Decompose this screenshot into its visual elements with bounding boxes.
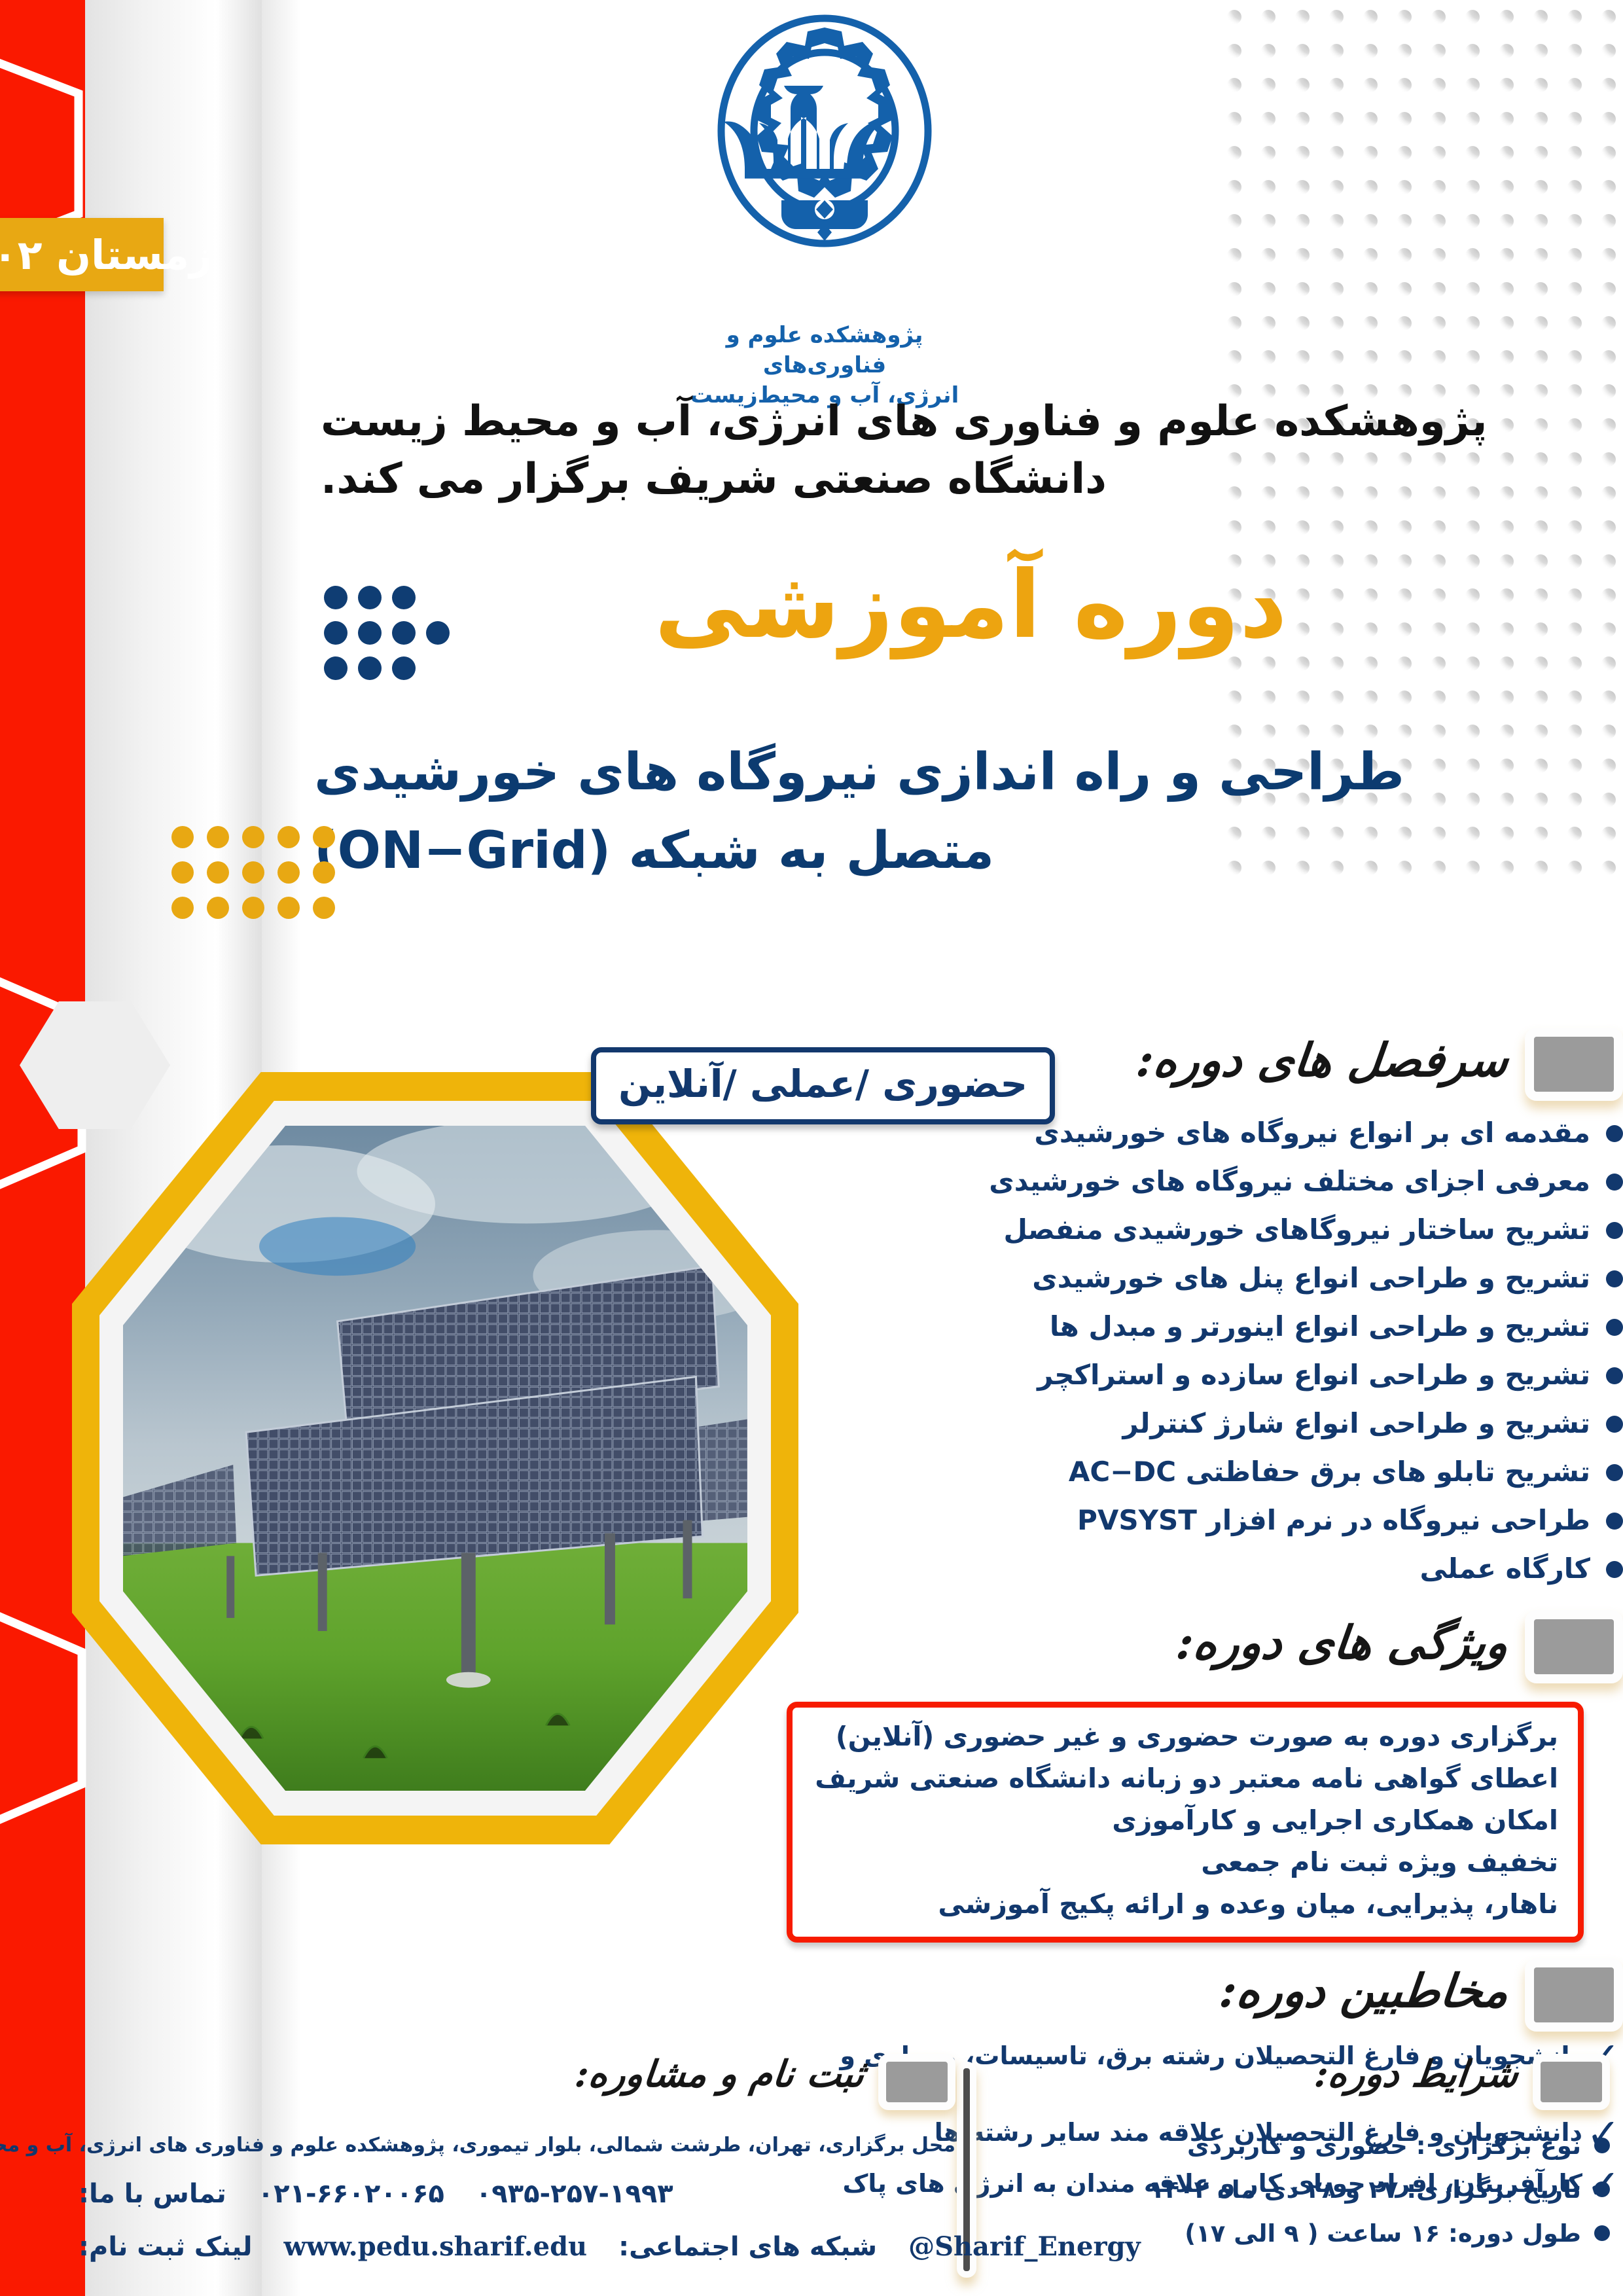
website-link[interactable]: www.pedu.sharif.edu: [284, 2231, 588, 2262]
syllabus-list: مقدمه ای بر انواع نیروگاه های خورشیدی مع…: [772, 1119, 1623, 1583]
sharif-university-logo-icon: [713, 13, 936, 249]
venue-address: محل برگزاری، تهران، طرشت شمالی، بلوار تی…: [79, 2134, 955, 2157]
registration-tab-icon: [878, 2054, 955, 2110]
page-subtitle-1: طراحی و راه اندازی نیروگاه های خورشیدی: [314, 740, 1571, 806]
footer-zone: شرایط دوره: نوع برگزاری : حضوری و کاربرد…: [0, 2049, 1623, 2296]
list-item: تخفیف ویژه ثبت نام جمعی: [812, 1848, 1558, 1878]
features-box: برگزاری دوره به صورت حضوری و غیر حضوری (…: [787, 1702, 1584, 1943]
contact-row: تماس با ما: ۰۲۱-۶۶۰۲۰۰۶۵ ۰۹۳۵-۲۵۷-۱۹۹۳: [79, 2179, 955, 2209]
registration-section-header: ثبت نام و مشاوره:: [79, 2049, 955, 2134]
registration-link-label: لینک ثبت نام:: [79, 2232, 253, 2262]
phone-primary[interactable]: ۰۲۱-۶۶۰۲۰۰۶۵: [258, 2179, 444, 2209]
links-row: لینک ثبت نام: www.pedu.sharif.edu شبکه ه…: [79, 2231, 955, 2262]
social-handle[interactable]: @Sharif_Energy: [908, 2231, 1141, 2262]
list-item: تشریح تابلو های برق حفاظتی AC−DC: [772, 1458, 1623, 1486]
decorative-blue-dots: [324, 586, 460, 692]
audience-heading: مخاطبین دوره:: [1217, 1964, 1512, 2018]
solar-plant-photo-frame: [72, 1072, 798, 1844]
list-item: تشریح و طراحی انواع سازده و استراکچر: [772, 1361, 1623, 1389]
list-item: ناهار، پذیرایی، میان وعده و ارائه پکیج آ…: [812, 1890, 1558, 1920]
phone-mobile[interactable]: ۰۹۳۵-۲۵۷-۱۹۹۳: [476, 2179, 673, 2209]
features-tab-icon: [1525, 1610, 1623, 1683]
header-statement: پژوهشکده علوم و فناوری های انرژی، آب و م…: [321, 393, 1564, 509]
features-heading: ویژگی های دوره:: [1174, 1615, 1511, 1670]
list-item: تشریح و طراحی انواع شارژ کنترلر: [772, 1410, 1623, 1437]
conditions-heading: شرایط دوره:: [1313, 2053, 1521, 2096]
list-item: تشریح و طراحی انواع پنل های خورشیدی: [772, 1265, 1623, 1292]
season-ribbon: زمستان ۱۴۰۲: [0, 218, 164, 291]
poster-root: زمستان ۱۴۰۲: [0, 0, 1623, 2296]
list-item: معرفی اجزای مختلف نیروگاه های خورشیدی: [772, 1168, 1623, 1195]
list-item: کارگاه عملی: [772, 1555, 1623, 1583]
right-content-column: سرفصل های دوره: مقدمه ای بر انواع نیروگا…: [772, 1021, 1623, 2222]
list-item: اعطای گواهی نامه معتبر دو زبانه دانشگاه …: [812, 1764, 1558, 1794]
syllabus-tab-icon: [1525, 1028, 1623, 1101]
audience-tab-icon: [1525, 1958, 1623, 2032]
registration-heading: ثبت نام و مشاوره:: [573, 2053, 866, 2096]
list-item: تشریح ساختار نیروگاهای خورشیدی منفصل: [772, 1216, 1623, 1244]
page-title: دوره آموزشی: [654, 556, 1571, 654]
course-mode-badge-label: حضوری /عملی /آنلاین: [618, 1062, 1027, 1106]
features-section-header: ویژگی های دوره:: [772, 1604, 1623, 1695]
registration-block: ثبت نام و مشاوره: محل برگزاری، تهران، طر…: [79, 2049, 955, 2284]
course-mode-badge: حضوری /عملی /آنلاین: [591, 1047, 1055, 1124]
solar-panel-photo: [123, 1126, 747, 1791]
decorative-orange-dots: [139, 826, 335, 932]
list-item: تشریح و طراحی انواع اینورتر و مبدل ها: [772, 1313, 1623, 1340]
page-subtitle-2: متصل به شبکه (ON−Grid): [314, 818, 1571, 884]
header-statement-line2: دانشگاه صنعتی شریف برگزار می کند.: [321, 450, 1564, 508]
header-statement-line1: پژوهشکده علوم و فناوری های انرژی، آب و م…: [321, 397, 1487, 446]
social-label: شبکه های اجتماعی:: [618, 2232, 877, 2262]
contact-label: تماس با ما:: [79, 2179, 226, 2209]
institute-caption-line1: پژوهشکده علوم و فناوری‌های: [668, 321, 982, 381]
syllabus-heading: سرفصل های دوره:: [1134, 1033, 1511, 1087]
conditions-tab-icon: [1533, 2054, 1610, 2110]
list-item: طراحی نیروگاه در نرم افزار PVSYST: [772, 1507, 1623, 1534]
list-item: امکان همکاری اجرایی و کارآموزی: [812, 1806, 1558, 1836]
list-item: برگزاری دوره به صورت حضوری و غیر حضوری (…: [812, 1722, 1558, 1752]
audience-section-header: مخاطبین دوره:: [772, 1952, 1623, 2043]
season-ribbon-label: زمستان ۱۴۰۲: [0, 231, 213, 279]
